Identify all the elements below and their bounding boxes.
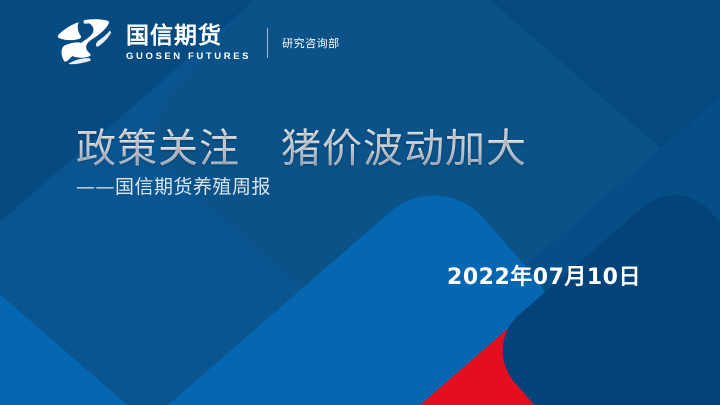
brand-wordmark: 国信期货 GUOSEN FUTURES <box>126 25 251 62</box>
guosen-folded-mark-icon <box>53 18 115 68</box>
background-band-lower-right <box>308 48 720 405</box>
red-capsule-shape <box>360 221 720 405</box>
title-block: 政策关注 猪价波动加大 ——国信期货养殖周报 <box>76 128 527 199</box>
brand-header: 国信期货 GUOSEN FUTURES 研究咨询部 <box>53 18 340 68</box>
page-title: 政策关注 猪价波动加大 <box>76 128 527 171</box>
red-overlay-wedge <box>300 330 720 405</box>
report-cover-slide: 国信期货 GUOSEN FUTURES 研究咨询部 政策关注 猪价波动加大 ——… <box>0 0 720 405</box>
report-date: 2022年07月10日 <box>447 259 641 291</box>
brand-name-en: GUOSEN FUTURES <box>126 52 251 62</box>
brand-divider <box>267 28 268 58</box>
page-subtitle: ——国信期货养殖周报 <box>76 172 527 199</box>
blue-capsule-edge-shape <box>0 246 261 405</box>
department-label: 研究咨询部 <box>282 35 340 51</box>
brand-name-cn: 国信期货 <box>126 25 251 48</box>
